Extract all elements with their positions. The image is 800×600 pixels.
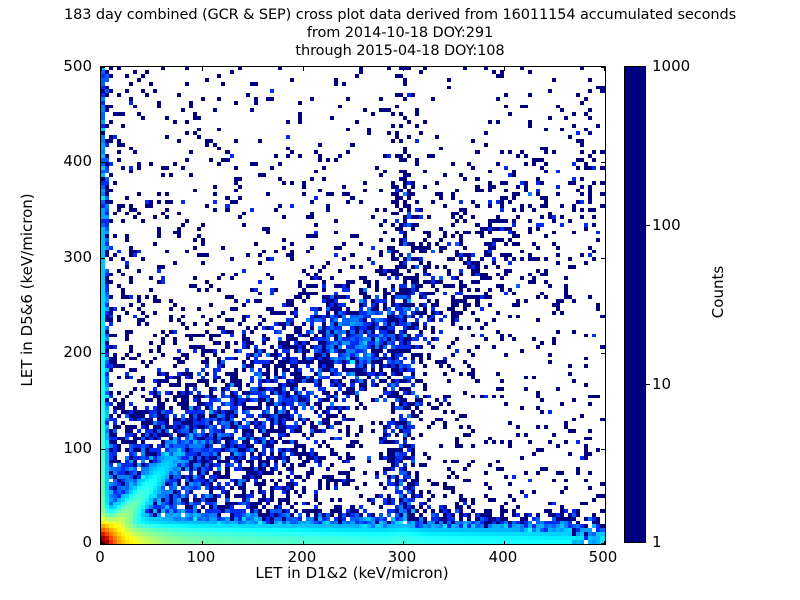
y-tick-mark-right	[601, 258, 605, 259]
colorbar-tick-label: 10	[652, 375, 671, 393]
x-tick-mark-top	[504, 67, 505, 71]
x-tick-mark	[303, 541, 304, 545]
y-tick-mark	[101, 449, 105, 450]
y-tick-label: 100	[42, 439, 92, 457]
y-tick-mark-right	[601, 449, 605, 450]
y-tick-label: 400	[42, 152, 92, 170]
x-tick-mark	[403, 541, 404, 545]
x-tick-mark-top	[303, 67, 304, 71]
x-tick-mark	[504, 541, 505, 545]
y-axis-label: LET in D5&6 (keV/micron)	[18, 140, 36, 440]
colorbar-tick-mark	[646, 384, 650, 385]
colorbar-gradient	[624, 66, 646, 543]
y-tick-mark	[101, 258, 105, 259]
y-tick-label: 0	[42, 533, 92, 551]
title-line-1: 183 day combined (GCR & SEP) cross plot …	[0, 6, 800, 24]
y-tick-mark	[101, 353, 105, 354]
y-tick-mark-right	[601, 353, 605, 354]
x-tick-mark-top	[403, 67, 404, 71]
title-line-2: from 2014-10-18 DOY:291	[0, 24, 800, 42]
y-tick-mark-right	[601, 543, 605, 544]
plot-axes-frame	[100, 66, 606, 545]
colorbar-tick-mark	[646, 225, 650, 226]
y-tick-mark	[101, 67, 105, 68]
x-tick-mark-top	[202, 67, 203, 71]
y-tick-mark-right	[601, 67, 605, 68]
y-tick-label: 300	[42, 248, 92, 266]
figure-canvas: 183 day combined (GCR & SEP) cross plot …	[0, 0, 800, 600]
y-tick-label: 200	[42, 343, 92, 361]
x-tick-mark	[202, 541, 203, 545]
colorbar-tick-label: 1000	[652, 57, 690, 75]
y-tick-mark	[101, 543, 105, 544]
plot-title: 183 day combined (GCR & SEP) cross plot …	[0, 6, 800, 60]
colorbar: 1101001000	[624, 66, 646, 543]
colorbar-tick-label: 1	[652, 533, 662, 551]
colorbar-label: Counts	[709, 192, 727, 392]
y-tick-mark-right	[601, 162, 605, 163]
y-tick-label: 500	[42, 57, 92, 75]
x-axis-label: LET in D1&2 (keV/micron)	[100, 564, 604, 582]
colorbar-tick-label: 100	[652, 216, 681, 234]
density-scatter-canvas	[101, 67, 605, 544]
y-tick-mark	[101, 162, 105, 163]
